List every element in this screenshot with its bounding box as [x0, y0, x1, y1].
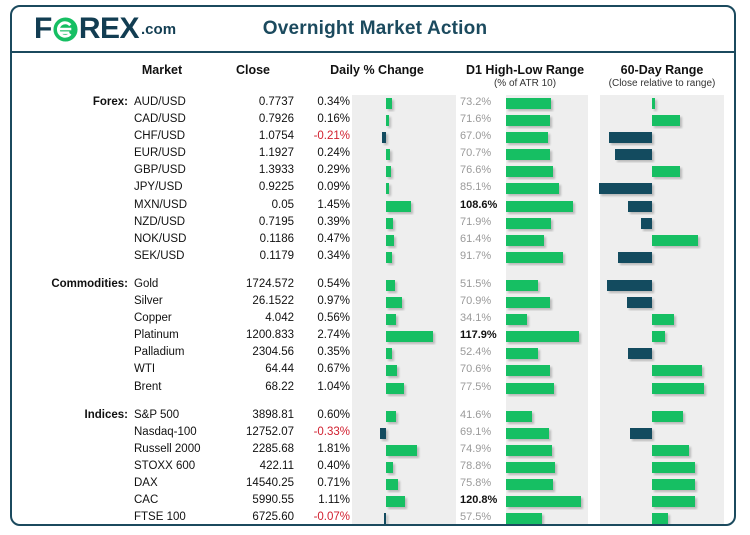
table-row[interactable]: Nasdaq-10012752.07-0.33%69.1%	[12, 425, 734, 442]
sixty-day-range-bar	[652, 314, 674, 325]
daily-change-plot-panel	[352, 215, 456, 232]
daily-change-value: 0.29%	[304, 164, 350, 176]
market-name: Platinum	[134, 329, 179, 341]
market-name: S&P 500	[134, 409, 179, 421]
daily-change-bar	[386, 383, 404, 394]
table-row[interactable]: Platinum1200.8332.74%117.9%	[12, 328, 734, 345]
daily-change-plot-panel	[352, 397, 456, 408]
daily-change-value: -0.33%	[304, 426, 350, 438]
report-window: Overnight Market Action F REX .com Marke…	[10, 5, 736, 526]
market-name: WTI	[134, 363, 155, 375]
sixty-day-plot-panel	[600, 397, 724, 408]
daily-change-value: 0.34%	[304, 250, 350, 262]
table-row[interactable]: CAC5990.551.11%120.8%	[12, 493, 734, 510]
close-value: 1.0754	[212, 130, 294, 142]
daily-change-plot-panel	[352, 232, 456, 249]
daily-change-bar	[386, 235, 394, 246]
daily-change-plot-panel	[352, 408, 456, 425]
market-name: STOXX 600	[134, 460, 195, 472]
daily-change-plot-panel	[352, 180, 456, 197]
sixty-day-plot-panel	[600, 345, 724, 362]
daily-change-plot-panel	[352, 510, 456, 526]
d1-range-bar	[506, 280, 538, 291]
market-name: CAD/USD	[134, 113, 186, 125]
daily-change-value: 0.35%	[304, 346, 350, 358]
sixty-day-range-bar	[652, 115, 680, 126]
table-row[interactable]: Commodities:Gold1724.5720.54%51.5%	[12, 277, 734, 294]
market-name: MXN/USD	[134, 199, 187, 211]
d1-range-bar	[506, 252, 563, 263]
atr-percent-value: 73.2%	[460, 96, 504, 108]
daily-change-bar	[386, 98, 392, 109]
d1-range-plot-panel	[506, 266, 588, 277]
sixty-day-range-bar	[652, 479, 695, 490]
market-name: Nasdaq-100	[134, 426, 197, 438]
table-row[interactable]: FTSE 1006725.60-0.07%57.5%	[12, 510, 734, 526]
sixty-day-plot-panel	[600, 425, 724, 442]
table-row[interactable]: JPY/USD0.92250.09%85.1%	[12, 180, 734, 197]
daily-change-bar	[386, 201, 411, 212]
col-header-d1-range-sub: (% of ATR 10)	[450, 78, 600, 89]
atr-percent-value: 51.5%	[460, 278, 504, 290]
d1-range-bar	[506, 383, 554, 394]
forex-logo[interactable]: F REX .com	[34, 14, 176, 44]
daily-change-value: 0.54%	[304, 278, 350, 290]
close-value: 26.1522	[212, 295, 294, 307]
close-value: 0.7195	[212, 216, 294, 228]
table-row[interactable]: WTI64.440.67%70.6%	[12, 362, 734, 379]
table-row[interactable]: Brent68.221.04%77.5%	[12, 380, 734, 397]
d1-range-bar	[506, 331, 579, 342]
sixty-day-range-bar	[599, 183, 652, 194]
atr-percent-value: 71.9%	[460, 216, 504, 228]
close-value: 12752.07	[212, 426, 294, 438]
col-header-close: Close	[210, 63, 296, 77]
daily-change-value: 0.09%	[304, 181, 350, 193]
daily-change-value: -0.07%	[304, 511, 350, 523]
d1-range-bar	[506, 445, 552, 456]
market-name: FTSE 100	[134, 511, 186, 523]
market-name: EUR/USD	[134, 147, 186, 159]
close-value: 0.9225	[212, 181, 294, 193]
daily-change-plot-panel	[352, 311, 456, 328]
logo-text-rex: REX	[79, 14, 139, 44]
sixty-day-range-bar	[652, 331, 665, 342]
daily-change-plot-panel	[352, 163, 456, 180]
d1-range-bar	[506, 218, 551, 229]
market-name: CHF/USD	[134, 130, 185, 142]
daily-change-bar	[386, 297, 402, 308]
sixty-day-plot-panel	[600, 95, 724, 112]
col-header-daily-change: Daily % Change	[302, 63, 452, 77]
col-header-60-day-range: 60-Day Range	[590, 63, 734, 77]
table-row[interactable]: CHF/USD1.0754-0.21%67.0%	[12, 129, 734, 146]
group-label: Indices:	[12, 409, 128, 421]
app-header: Overnight Market Action F REX .com	[12, 7, 734, 53]
close-value: 0.05	[212, 199, 294, 211]
daily-change-plot-panel	[352, 277, 456, 294]
d1-range-bar	[506, 235, 544, 246]
atr-percent-value: 117.9%	[460, 329, 504, 341]
sixty-day-range-bar	[652, 365, 702, 376]
sixty-day-range-bar	[641, 218, 652, 229]
atr-percent-value: 75.8%	[460, 477, 504, 489]
d1-range-bar	[506, 149, 550, 160]
sixty-day-range-bar	[652, 166, 680, 177]
daily-change-bar	[386, 218, 393, 229]
sixty-day-range-bar	[628, 201, 652, 212]
close-value: 5990.55	[212, 494, 294, 506]
daily-change-bar	[386, 166, 391, 177]
daily-change-bar	[386, 252, 392, 263]
close-value: 1.3933	[212, 164, 294, 176]
table-row[interactable]: NOK/USD0.11860.47%61.4%	[12, 232, 734, 249]
atr-percent-value: 61.4%	[460, 233, 504, 245]
market-name: Gold	[134, 278, 158, 290]
daily-change-value: 1.04%	[304, 381, 350, 393]
daily-change-value: 0.56%	[304, 312, 350, 324]
sixty-day-range-bar	[652, 496, 695, 507]
sixty-day-range-bar	[652, 235, 698, 246]
sixty-day-range-bar	[652, 411, 683, 422]
daily-change-bar	[386, 365, 397, 376]
daily-change-bar	[380, 428, 386, 439]
atr-percent-value: 70.9%	[460, 295, 504, 307]
sixty-day-range-bar	[628, 348, 652, 359]
daily-change-plot-panel	[352, 380, 456, 397]
d1-range-bar	[506, 115, 550, 126]
d1-range-bar	[506, 314, 527, 325]
col-header-60-day-range-sub: (Close relative to range)	[590, 78, 734, 89]
daily-change-plot-panel	[352, 112, 456, 129]
market-name: AUD/USD	[134, 96, 186, 108]
atr-percent-value: 57.5%	[460, 511, 504, 523]
daily-change-bar	[386, 149, 390, 160]
market-name: SEK/USD	[134, 250, 185, 262]
d1-range-bar	[506, 496, 581, 507]
table-row[interactable]: Silver26.15220.97%70.9%	[12, 294, 734, 311]
daily-change-bar	[386, 331, 433, 342]
group-label: Forex:	[12, 96, 128, 108]
close-value: 64.44	[212, 363, 294, 375]
column-headers: Market Close Daily % Change D1 High-Low …	[12, 53, 734, 95]
close-value: 4.042	[212, 312, 294, 324]
daily-change-value: 1.81%	[304, 443, 350, 455]
d1-range-bar	[506, 365, 550, 376]
table-row[interactable]: Indices:S&P 5003898.810.60%41.6%	[12, 408, 734, 425]
d1-range-bar	[506, 513, 542, 524]
d1-range-bar	[506, 428, 549, 439]
daily-change-value: 1.45%	[304, 199, 350, 211]
market-name: JPY/USD	[134, 181, 183, 193]
daily-change-value: 0.67%	[304, 363, 350, 375]
d1-range-bar	[506, 132, 548, 143]
market-name: Silver	[134, 295, 163, 307]
close-value: 0.1179	[212, 250, 294, 262]
table-row[interactable]: EUR/USD1.19270.24%70.7%	[12, 146, 734, 163]
atr-percent-value: 70.6%	[460, 363, 504, 375]
daily-change-plot-panel	[352, 294, 456, 311]
atr-percent-value: 70.7%	[460, 147, 504, 159]
daily-change-bar	[386, 348, 392, 359]
close-value: 0.7737	[212, 96, 294, 108]
atr-percent-value: 91.7%	[460, 250, 504, 262]
d1-range-bar	[506, 297, 550, 308]
daily-change-value: -0.21%	[304, 130, 350, 142]
sixty-day-plot-panel	[600, 294, 724, 311]
table-row[interactable]: Palladium2304.560.35%52.4%	[12, 345, 734, 362]
daily-change-value: 0.97%	[304, 295, 350, 307]
daily-change-plot-panel	[352, 146, 456, 163]
d1-range-plot-panel	[506, 397, 588, 408]
group-label: Commodities:	[12, 278, 128, 290]
daily-change-value: 2.74%	[304, 329, 350, 341]
table-row[interactable]: CAD/USD0.79260.16%71.6%	[12, 112, 734, 129]
daily-change-bar	[386, 314, 396, 325]
atr-percent-value: 77.5%	[460, 381, 504, 393]
section-gap	[12, 397, 734, 408]
daily-change-bar	[386, 183, 389, 194]
close-value: 1200.833	[212, 329, 294, 341]
daily-change-plot-panel	[352, 425, 456, 442]
col-header-market: Market	[122, 63, 202, 77]
market-table: Forex:AUD/USD0.77370.34%73.2%CAD/USD0.79…	[12, 95, 734, 526]
daily-change-plot-panel	[352, 95, 456, 112]
atr-percent-value: 52.4%	[460, 346, 504, 358]
atr-percent-value: 67.0%	[460, 130, 504, 142]
daily-change-bar	[386, 462, 393, 473]
d1-range-bar	[506, 98, 551, 109]
d1-range-bar	[506, 462, 555, 473]
atr-percent-value: 120.8%	[460, 494, 504, 506]
daily-change-value: 0.40%	[304, 460, 350, 472]
d1-range-bar	[506, 411, 532, 422]
sixty-day-range-bar	[627, 297, 652, 308]
sixty-day-range-bar	[652, 445, 689, 456]
close-value: 68.22	[212, 381, 294, 393]
daily-change-bar	[386, 411, 396, 422]
sixty-day-range-bar	[607, 280, 652, 291]
logo-text-com: .com	[141, 21, 176, 38]
sixty-day-range-bar	[652, 462, 695, 473]
daily-change-bar	[386, 496, 405, 507]
daily-change-bar	[386, 115, 389, 126]
d1-range-bar	[506, 201, 573, 212]
close-value: 0.7926	[212, 113, 294, 125]
market-name: Palladium	[134, 346, 185, 358]
d1-range-bar	[506, 166, 553, 177]
d1-range-bar	[506, 348, 538, 359]
daily-change-plot-panel	[352, 476, 456, 493]
atr-percent-value: 76.6%	[460, 164, 504, 176]
daily-change-value: 0.24%	[304, 147, 350, 159]
daily-change-bar	[386, 280, 395, 291]
market-name: Brent	[134, 381, 162, 393]
daily-change-plot-panel	[352, 129, 456, 146]
col-header-d1-range: D1 High-Low Range	[450, 63, 600, 77]
daily-change-plot-panel	[352, 459, 456, 476]
close-value: 422.11	[212, 460, 294, 472]
sixty-day-range-bar	[652, 383, 704, 394]
daily-change-value: 0.34%	[304, 96, 350, 108]
table-row[interactable]: GBP/USD1.39330.29%76.6%	[12, 163, 734, 180]
close-value: 2304.56	[212, 346, 294, 358]
daily-change-value: 0.60%	[304, 409, 350, 421]
close-value: 1.1927	[212, 147, 294, 159]
daily-change-value: 0.47%	[304, 233, 350, 245]
daily-change-value: 1.11%	[304, 494, 350, 506]
d1-range-bar	[506, 183, 559, 194]
daily-change-plot-panel	[352, 249, 456, 266]
sixty-day-plot-panel	[600, 266, 724, 277]
atr-percent-value: 108.6%	[460, 199, 504, 211]
sixty-day-range-bar	[652, 513, 668, 524]
close-value: 6725.60	[212, 511, 294, 523]
table-row[interactable]: SEK/USD0.11790.34%91.7%	[12, 249, 734, 266]
close-value: 14540.25	[212, 477, 294, 489]
atr-percent-value: 85.1%	[460, 181, 504, 193]
logo-text-f: F	[34, 14, 52, 44]
daily-change-value: 0.16%	[304, 113, 350, 125]
daily-change-plot-panel	[352, 266, 456, 277]
market-name: Copper	[134, 312, 172, 324]
atr-percent-value: 71.6%	[460, 113, 504, 125]
daily-change-bar	[386, 479, 398, 490]
daily-change-value: 0.39%	[304, 216, 350, 228]
table-row[interactable]: NZD/USD0.71950.39%71.9%	[12, 215, 734, 232]
close-value: 1724.572	[212, 278, 294, 290]
market-name: NZD/USD	[134, 216, 185, 228]
table-row[interactable]: Forex:AUD/USD0.77370.34%73.2%	[12, 95, 734, 112]
sixty-day-range-bar	[652, 98, 655, 109]
daily-change-plot-panel	[352, 345, 456, 362]
sixty-day-range-bar	[630, 428, 652, 439]
sixty-day-range-bar	[609, 132, 652, 143]
sixty-day-plot-panel	[600, 198, 724, 215]
atr-percent-value: 74.9%	[460, 443, 504, 455]
close-value: 2285.68	[212, 443, 294, 455]
atr-percent-value: 78.8%	[460, 460, 504, 472]
sixty-day-plot-panel	[600, 215, 724, 232]
market-name: CAC	[134, 494, 158, 506]
close-value: 3898.81	[212, 409, 294, 421]
market-name: NOK/USD	[134, 233, 186, 245]
atr-percent-value: 34.1%	[460, 312, 504, 324]
atr-percent-value: 41.6%	[460, 409, 504, 421]
daily-change-bar	[384, 513, 387, 524]
market-name: DAX	[134, 477, 158, 489]
table-row[interactable]: MXN/USD0.051.45%108.6%	[12, 198, 734, 215]
table-row[interactable]: Copper4.0420.56%34.1%	[12, 311, 734, 328]
market-name: Russell 2000	[134, 443, 200, 455]
section-gap	[12, 266, 734, 277]
daily-change-bar	[386, 445, 417, 456]
d1-range-bar	[506, 479, 553, 490]
euro-globe-icon	[52, 16, 79, 43]
daily-change-value: 0.71%	[304, 477, 350, 489]
table-row[interactable]: Russell 20002285.681.81%74.9%	[12, 442, 734, 459]
close-value: 0.1186	[212, 233, 294, 245]
daily-change-plot-panel	[352, 362, 456, 379]
atr-percent-value: 69.1%	[460, 426, 504, 438]
sixty-day-range-bar	[618, 252, 652, 263]
table-row[interactable]: DAX14540.250.71%75.8%	[12, 476, 734, 493]
sixty-day-range-bar	[615, 149, 652, 160]
market-name: GBP/USD	[134, 164, 186, 176]
daily-change-bar	[382, 132, 386, 143]
table-row[interactable]: STOXX 600422.110.40%78.8%	[12, 459, 734, 476]
